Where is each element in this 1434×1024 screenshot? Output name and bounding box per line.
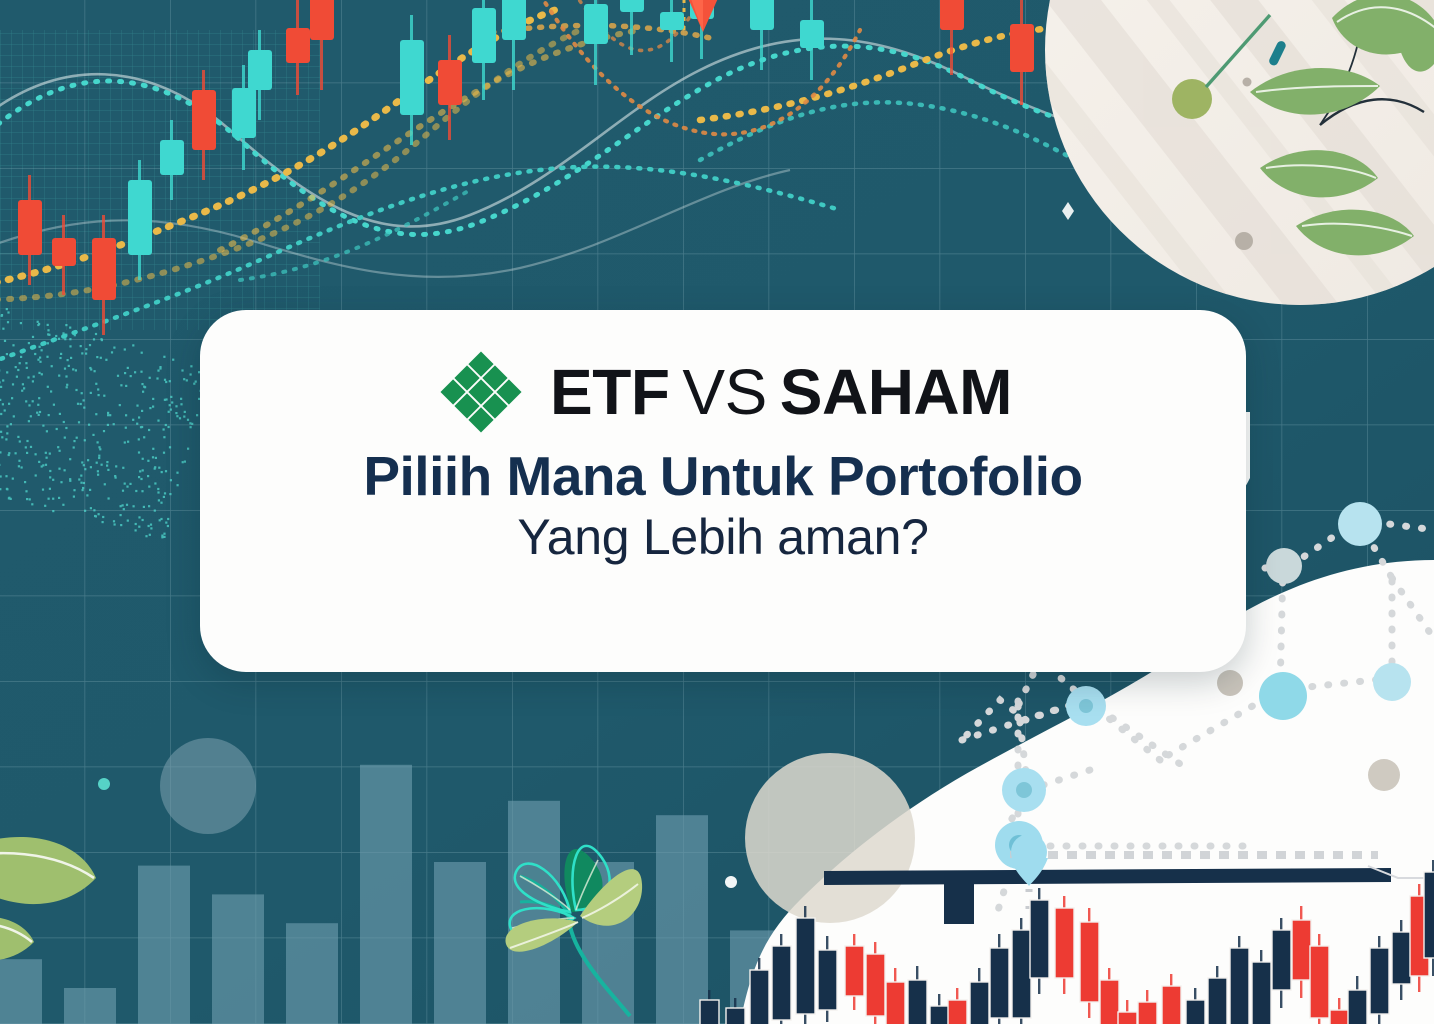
headline-saham: SAHAM — [780, 360, 1012, 424]
headline-etf: ETF — [550, 360, 669, 424]
green-diamond-grid-logo — [434, 345, 528, 439]
subtitle-line-1: Piliih Mana Untuk Portofolio — [363, 448, 1082, 506]
subtitle-line-2: Yang Lebih aman? — [517, 510, 928, 565]
headline-card: ETF VS SAHAM Piliih Mana Untuk Portofoli… — [200, 310, 1246, 672]
headline-vs: VS — [682, 360, 766, 424]
page-title: ETF VS SAHAM — [550, 360, 1012, 424]
headline-row: ETF VS SAHAM — [434, 344, 1012, 440]
poster-canvas: ETF VS SAHAM Piliih Mana Untuk Portofoli… — [0, 0, 1434, 1024]
